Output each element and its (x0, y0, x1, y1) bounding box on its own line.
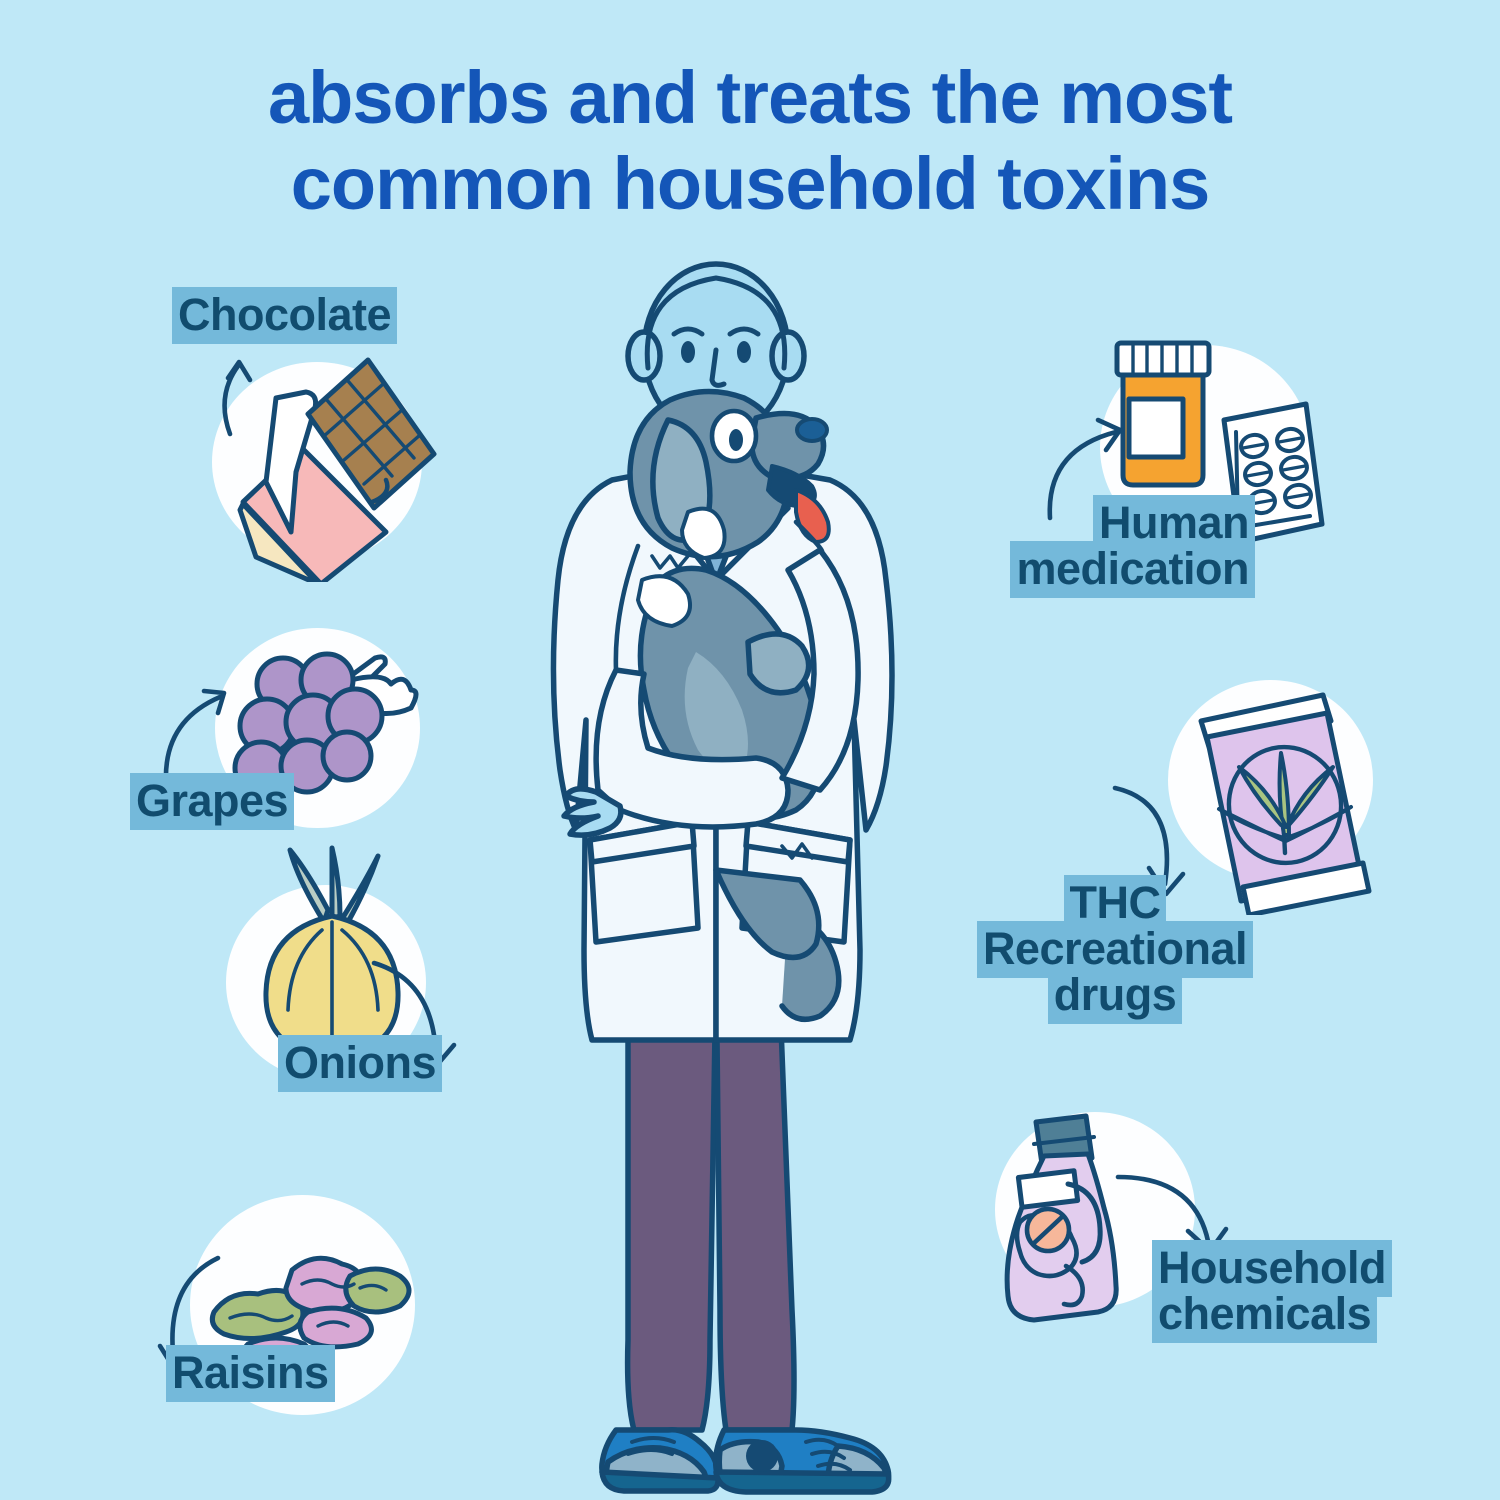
ear-right (772, 332, 804, 380)
label-raisins: Raisins (166, 1350, 335, 1396)
shoe-right (716, 1430, 889, 1492)
infographic-canvas: absorbs and treats the most common house… (0, 0, 1500, 1500)
label-household-chemicals-line-1: Household (1152, 1245, 1392, 1291)
label-onions-line-1: Onions (278, 1040, 442, 1086)
ear-left (628, 332, 660, 380)
label-grapes-line-1: Grapes (130, 778, 294, 824)
label-chocolate-line-1: Chocolate (172, 292, 397, 338)
eye-left (681, 341, 695, 363)
page-title: absorbs and treats the most common house… (130, 55, 1370, 227)
label-onions: Onions (278, 1040, 442, 1086)
veterinarian-holding-dog-illustration (520, 250, 990, 1500)
title-line-1: absorbs and treats the most (130, 55, 1370, 141)
shoe-left (602, 1430, 718, 1491)
title-line-2: common household toxins (130, 141, 1370, 227)
coat-pocket-left (590, 822, 698, 942)
label-grapes: Grapes (130, 778, 294, 824)
label-raisins-line-1: Raisins (166, 1350, 335, 1396)
chocolate-arrow-icon (196, 352, 316, 462)
label-chocolate: Chocolate (172, 292, 397, 338)
label-household-chemicals-line-2: chemicals (1152, 1291, 1392, 1337)
label-household-chemicals: Household chemicals (1152, 1245, 1392, 1337)
eye-right (737, 341, 751, 363)
